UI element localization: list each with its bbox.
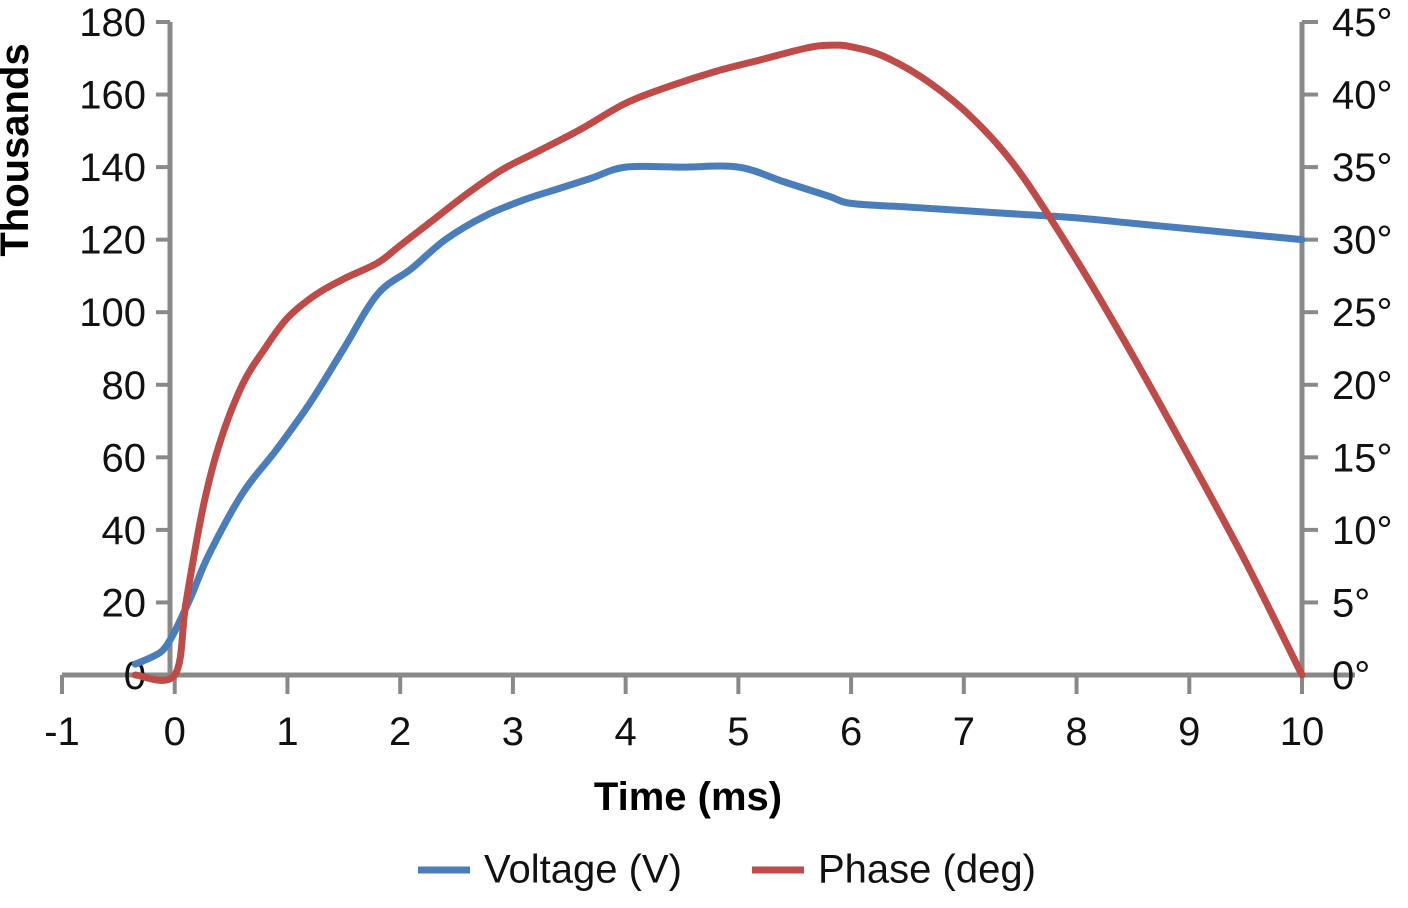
left-tick-label: 20 <box>102 581 147 625</box>
left-tick-label: 140 <box>79 146 146 190</box>
x-axis-ticks <box>62 675 1302 694</box>
right-tick-label: 5° <box>1332 581 1370 625</box>
y-axis-title: Thousands <box>0 43 37 256</box>
legend-label-voltage: Voltage (V) <box>484 848 682 892</box>
series-line-phase-deg <box>135 45 1302 680</box>
right-tick-label: 30° <box>1332 219 1393 263</box>
x-tick-label: 7 <box>953 710 975 754</box>
x-tick-label: 1 <box>276 710 298 754</box>
legend-label-phase: Phase (deg) <box>818 848 1036 892</box>
x-axis-tick-labels: -1012345678910 <box>44 710 1324 754</box>
x-tick-label: -1 <box>44 710 80 754</box>
x-tick-label: 6 <box>840 710 862 754</box>
left-tick-label: 120 <box>79 219 146 263</box>
right-tick-label: 20° <box>1332 364 1393 408</box>
right-tick-label: 10° <box>1332 509 1393 553</box>
x-tick-label: 5 <box>727 710 749 754</box>
right-tick-label: 35° <box>1332 146 1393 190</box>
right-axis-tick-labels: 0°5°10°15°20°25°30°35°40°45° <box>1332 1 1393 698</box>
x-tick-label: 0 <box>164 710 186 754</box>
chart-legend: Voltage (V)Phase (deg) <box>418 848 1036 892</box>
series-lines <box>135 45 1302 680</box>
left-tick-label: 180 <box>79 1 146 45</box>
x-tick-label: 3 <box>502 710 524 754</box>
x-tick-label: 9 <box>1178 710 1200 754</box>
left-tick-label: 100 <box>79 291 146 335</box>
x-tick-label: 4 <box>615 710 637 754</box>
series-line-voltage-v <box>135 166 1302 664</box>
left-tick-label: 80 <box>102 364 147 408</box>
line-chart: 020406080100120140160180 0°5°10°15°20°25… <box>0 0 1408 908</box>
right-tick-label: 45° <box>1332 1 1393 45</box>
left-tick-label: 160 <box>79 74 146 118</box>
x-tick-label: 10 <box>1280 710 1325 754</box>
left-tick-label: 40 <box>102 509 147 553</box>
right-tick-label: 25° <box>1332 291 1393 335</box>
x-axis-title: Time (ms) <box>594 775 782 819</box>
right-tick-label: 15° <box>1332 436 1393 480</box>
left-axis-tick-labels: 020406080100120140160180 <box>79 1 146 698</box>
x-tick-label: 8 <box>1065 710 1087 754</box>
right-tick-label: 40° <box>1332 74 1393 118</box>
chart-container: 020406080100120140160180 0°5°10°15°20°25… <box>0 0 1408 908</box>
right-tick-label: 0° <box>1332 654 1370 698</box>
x-tick-label: 2 <box>389 710 411 754</box>
left-tick-label: 60 <box>102 436 147 480</box>
